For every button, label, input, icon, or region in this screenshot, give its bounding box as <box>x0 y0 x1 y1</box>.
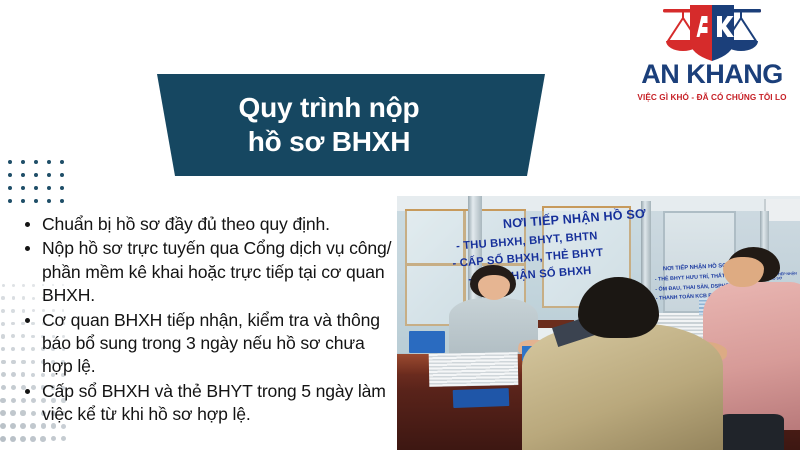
slide-canvas: AN KHANG VIỆC GÌ KHÓ - ĐÃ CÓ CHÚNG TÔI L… <box>0 0 800 450</box>
decorative-dot <box>21 186 25 190</box>
brand-logo: AN KHANG VIỆC GÌ KHÓ - ĐÃ CÓ CHÚNG TÔI L… <box>630 4 794 110</box>
decorative-dot <box>11 347 15 351</box>
list-item: Nộp hồ sơ trực tuyến qua Cổng dịch vụ cô… <box>16 237 394 307</box>
decorative-dot <box>34 186 38 190</box>
decorative-dot <box>21 199 25 203</box>
page-title: Quy trình nộp hồ sơ BHXH <box>239 91 452 159</box>
dot-grid-top-left <box>8 160 70 212</box>
decorative-dot <box>1 385 6 390</box>
air-conditioner <box>764 199 800 222</box>
photo-scene: NƠI TIẾP NHẬN HỒ SƠ - THU BHXH, BHYT, BH… <box>397 196 800 450</box>
decorative-dot <box>20 436 26 442</box>
decorative-dot <box>11 385 16 390</box>
decorative-dot <box>2 284 5 287</box>
ak-shield-scales-icon <box>646 4 778 62</box>
decorative-dot <box>61 436 66 441</box>
decorative-dot <box>1 347 6 352</box>
decorative-dot <box>1 360 6 365</box>
decorative-dot <box>21 173 25 177</box>
decorative-dot <box>0 410 6 416</box>
decorative-dot <box>30 436 36 442</box>
decorative-dot <box>34 199 38 203</box>
decorative-dot <box>34 173 38 177</box>
decorative-dot <box>8 173 12 177</box>
decorative-dot <box>11 334 15 338</box>
decorative-dot <box>47 199 51 203</box>
decorative-dot <box>34 160 38 164</box>
decorative-dot <box>11 322 15 326</box>
decorative-dot <box>1 334 5 338</box>
office-chair <box>719 414 783 450</box>
decorative-dot <box>47 160 51 164</box>
decorative-dot <box>0 423 6 429</box>
blue-folder-left <box>409 331 445 354</box>
decorative-dot <box>60 160 64 164</box>
decorative-dot <box>1 296 5 300</box>
brand-tagline: VIỆC GÌ KHÓ - ĐÃ CÓ CHÚNG TÔI LO <box>630 93 794 102</box>
list-item: Cơ quan BHXH tiếp nhận, kiểm tra và thôn… <box>16 309 394 379</box>
decorative-dot <box>1 372 6 377</box>
list-item: Cấp sổ BHXH và thẻ BHYT trong 5 ngày làm… <box>16 380 394 427</box>
decorative-dot <box>8 186 12 190</box>
decorative-dot <box>0 436 6 442</box>
decorative-dot <box>8 160 12 164</box>
decorative-dot <box>12 296 15 299</box>
decorative-dot <box>40 436 46 442</box>
decorative-dot <box>21 160 25 164</box>
visitor-front-body <box>522 323 724 450</box>
decorative-dot <box>11 309 15 313</box>
process-step-list: Chuẩn bị hồ sơ đầy đủ theo quy định. Nộp… <box>16 213 394 428</box>
title-banner: Quy trình nộp hồ sơ BHXH <box>145 74 545 176</box>
decorative-dot <box>60 199 64 203</box>
decorative-dot <box>8 199 12 203</box>
decorative-dot <box>1 309 5 313</box>
list-item: Chuẩn bị hồ sơ đầy đủ theo quy định. <box>16 213 394 236</box>
decorative-dot <box>47 186 51 190</box>
decorative-dot <box>10 436 16 442</box>
decorative-dot <box>0 398 6 404</box>
decorative-dot <box>47 173 51 177</box>
decorative-dot <box>60 173 64 177</box>
decorative-dot <box>11 360 16 365</box>
decorative-dot <box>51 436 56 441</box>
decorative-dot <box>12 284 15 287</box>
office-photo: NƠI TIẾP NHẬN HỒ SƠ - THU BHXH, BHYT, BH… <box>397 196 800 450</box>
decorative-dot <box>1 322 5 326</box>
decorative-dot <box>60 186 64 190</box>
brand-name: AN KHANG <box>630 61 794 88</box>
blue-folder-counter <box>453 388 510 408</box>
decorative-dot <box>11 372 16 377</box>
paper-stack-counter <box>429 353 518 388</box>
